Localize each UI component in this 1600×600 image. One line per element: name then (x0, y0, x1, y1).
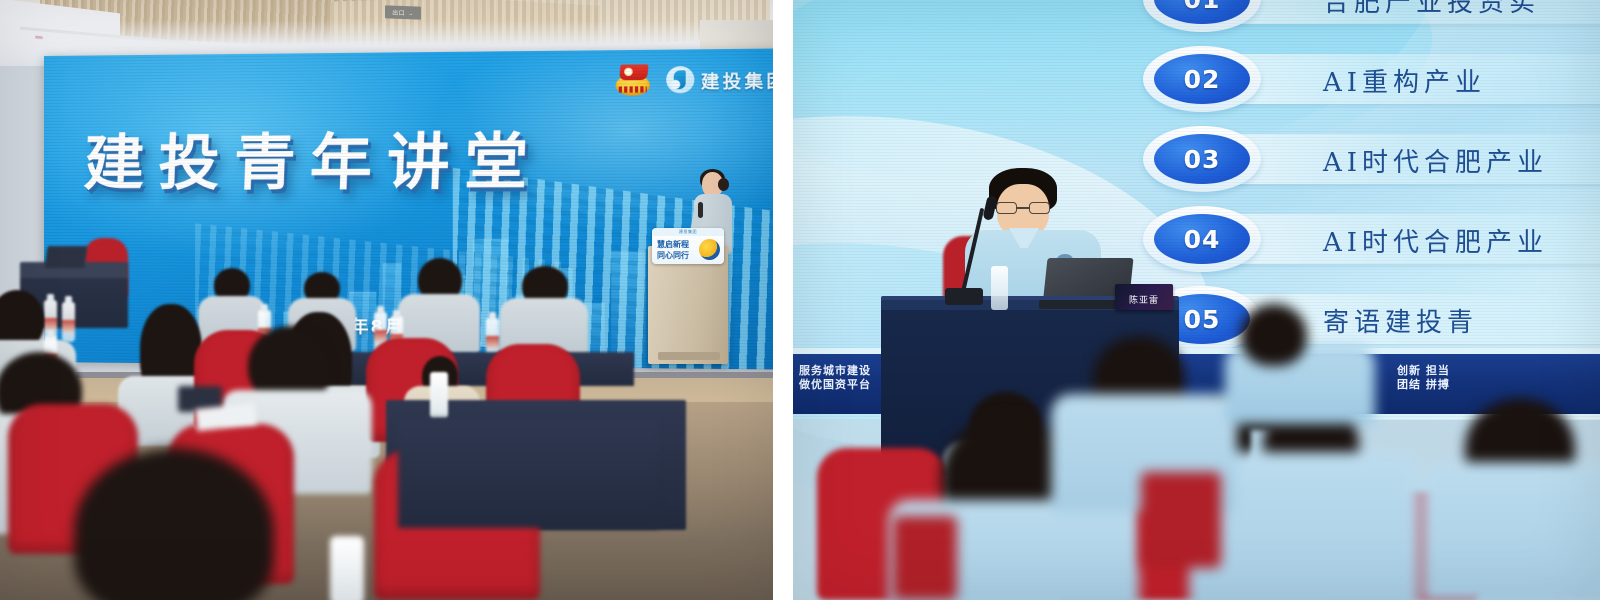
audience-chair (1141, 472, 1221, 568)
microphone-base (945, 288, 983, 305)
photo-gutter (773, 0, 793, 600)
slide-wave-1 (793, 0, 1448, 219)
agenda-text: 寄语建投青 (1323, 302, 1478, 339)
stage-laptop (44, 246, 87, 268)
left-photo: 出口 → (0, 0, 773, 600)
screen-logo-row: 建投集团 (614, 63, 773, 96)
agenda-item: 03 AI时代合肥产业 (1143, 120, 1600, 200)
agenda-bar (1173, 134, 1600, 184)
agenda-text: AI时代合肥产业 (1323, 142, 1548, 179)
agenda-item: 01 合肥产业投资实 (1143, 0, 1600, 40)
podium-sign-line2: 同心同行 (657, 250, 689, 261)
agenda-number: 02 (1154, 54, 1250, 104)
agenda-bar (1173, 54, 1600, 104)
water-bottle (430, 372, 448, 418)
screenshot-root: 出口 → (0, 0, 1600, 600)
name-placard: 陈亚雷 (1115, 284, 1173, 310)
podium-sign-emblem-icon (699, 239, 720, 260)
exit-sign: 出口 → (385, 5, 421, 19)
agenda-item: 02 AI重构产业 (1143, 40, 1600, 120)
host-hair-bun (718, 178, 729, 191)
podium-sign-line1: 慧启新程 (657, 239, 689, 250)
agenda-number-badge: 01 (1143, 0, 1261, 32)
led-screen-title: 建投青年讲堂 (83, 131, 544, 193)
banner-right-line2: 团结 拼搏 (1397, 378, 1450, 391)
agenda-number-badge: 03 (1143, 126, 1261, 192)
banner-left-line2: 做优国资平台 (799, 378, 871, 391)
agenda-item: 04 AI时代合肥产业 (1143, 200, 1600, 280)
podium-base (658, 352, 720, 360)
communist-youth-league-emblem-icon (614, 64, 651, 95)
agenda-number: 01 (1154, 0, 1250, 24)
agenda-list: 01 合肥产业投资实 02 AI重构产业 03 AI时代合肥产业 (1143, 0, 1600, 360)
right-photo: 01 合肥产业投资实 02 AI重构产业 03 AI时代合肥产业 (793, 0, 1600, 600)
agenda-bar (1173, 294, 1600, 344)
water-bottle (991, 266, 1008, 310)
agenda-text: AI时代合肥产业 (1323, 222, 1548, 259)
slide-wave-2 (793, 0, 1441, 204)
jiantou-logo-text: 建投集团 (701, 66, 773, 93)
podium-sign-header: 建投集团 (652, 228, 724, 236)
agenda-bar (1173, 0, 1600, 24)
agenda-number-badge: 04 (1143, 206, 1261, 272)
handheld-microphone-icon (698, 202, 703, 218)
water-bottle (62, 302, 75, 342)
agenda-text: AI重构产业 (1323, 62, 1486, 99)
agenda-number: 03 (1154, 134, 1250, 184)
water-bottle (330, 536, 364, 600)
eyeglasses-icon (996, 202, 1050, 214)
jiantou-group-logo: 建投集团 (666, 65, 773, 93)
agenda-number: 04 (1154, 214, 1250, 264)
agenda-text: 合肥产业投资实 (1323, 0, 1540, 19)
agenda-number-badge: 02 (1143, 46, 1261, 112)
audience-table-near (398, 418, 658, 528)
jiantou-mark-icon (666, 66, 694, 93)
podium-sign: 建投集团 慧启新程 同心同行 (652, 228, 724, 264)
name-placard-text: 陈亚雷 (1129, 293, 1159, 306)
agenda-bar (1173, 214, 1600, 264)
audience-chair (893, 516, 957, 600)
banner-right-line1: 创新 担当 (1397, 364, 1450, 377)
banner-left-line1: 服务城市建设 (799, 364, 871, 377)
